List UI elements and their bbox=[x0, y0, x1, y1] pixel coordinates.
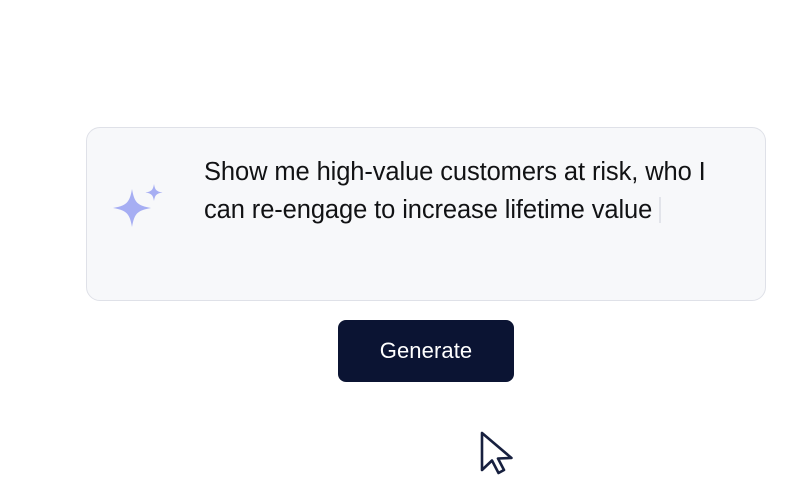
text-caret bbox=[659, 197, 661, 223]
sparkle-icon bbox=[109, 183, 173, 243]
prompt-text-value[interactable]: Show me high-value customers at risk, wh… bbox=[204, 154, 744, 229]
prompt-input-card[interactable]: Show me high-value customers at risk, wh… bbox=[86, 127, 766, 301]
mouse-pointer-cursor bbox=[477, 430, 519, 478]
app-screen: Show me high-value customers at risk, wh… bbox=[0, 0, 804, 479]
generate-button[interactable]: Generate bbox=[338, 320, 514, 382]
prompt-text-content: Show me high-value customers at risk, wh… bbox=[204, 158, 713, 224]
